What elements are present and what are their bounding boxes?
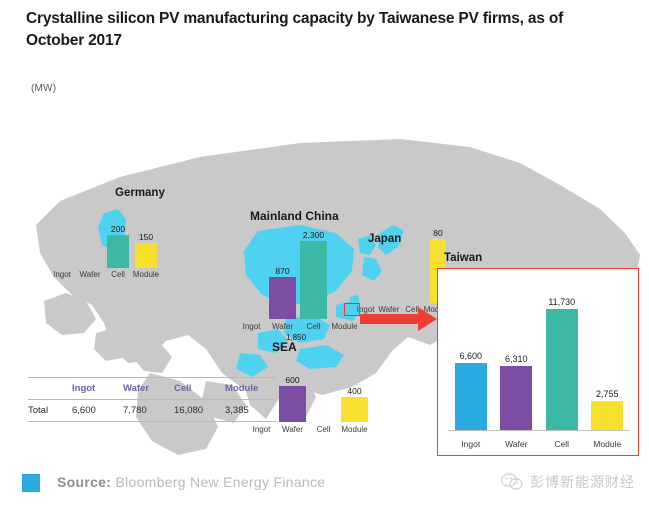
- cats-mainland-china: Ingot Wafer Cell Module: [236, 322, 360, 331]
- inset-axis-line: [448, 430, 630, 431]
- region-germany: Germany 200 150: [40, 190, 160, 280]
- infographic-page: Crystalline silicon PV manufacturing cap…: [0, 0, 649, 507]
- source-prefix: Source:: [57, 474, 111, 490]
- source-name: Bloomberg New Energy Finance: [115, 474, 325, 490]
- bar-sea-wafer: 600: [277, 375, 308, 422]
- table-header-ingot: Ingot: [72, 383, 123, 394]
- table-row: Total 6,600 7,780 16,080 3,385: [28, 400, 276, 421]
- watermark-text: 彭博新能源财经: [530, 472, 635, 492]
- bars-japan: 80: [354, 225, 450, 303]
- table-header-row: Ingot Wafer Cell Module: [28, 378, 276, 399]
- cats-germany: Ingot Wafer Cell Module: [48, 270, 160, 279]
- bars-mainland-china: 870 2,300 x: [236, 227, 360, 319]
- table-header-module: Module: [225, 383, 276, 394]
- region-mainland-china: Mainland China 870 2,300 x: [228, 210, 358, 330]
- bar-sea-module: 400: [339, 386, 370, 422]
- table-cell-ingot: 6,600: [72, 405, 123, 416]
- bar-germany-wafer: [76, 267, 104, 268]
- source-text: Source: Bloomberg New Energy Finance: [57, 474, 325, 490]
- inset-bar-module: 2,755: [591, 277, 623, 431]
- region-label-germany: Germany: [115, 187, 165, 199]
- page-title: Crystalline silicon PV manufacturing cap…: [26, 8, 616, 52]
- region-label-mainland-china: Mainland China: [250, 209, 339, 223]
- taiwan-callout-box: [344, 303, 360, 316]
- source-swatch-icon: [22, 474, 40, 492]
- cats-sea: Ingot Wafer Cell Module: [246, 425, 370, 434]
- inset-title-taiwan: Taiwan: [444, 252, 482, 264]
- table-header-cell: Cell: [174, 383, 225, 394]
- bar-japan-cell: [402, 302, 426, 303]
- table-cell-module: 3,385: [225, 405, 276, 416]
- bars-germany: 200 150: [48, 208, 160, 268]
- bar-germany-cell: 200: [104, 224, 132, 268]
- bar-china-ingot: [236, 318, 267, 319]
- red-arrow-icon: [360, 306, 438, 332]
- bar-germany-module: 150: [132, 232, 160, 268]
- table-row-label: Total: [28, 405, 72, 416]
- table-cell-cell: 16,080: [174, 405, 225, 416]
- bar-japan-wafer: [378, 302, 402, 303]
- watermark: 彭博新能源财经: [501, 472, 635, 492]
- inset-bar-cell: 11,730: [546, 277, 578, 431]
- inset-category-labels: Ingot Wafer Cell Module: [448, 439, 630, 449]
- inset-plot-area: 6,600 6,310 11,730 2,755: [448, 277, 630, 431]
- bar-china-cell: 2,300: [298, 230, 329, 319]
- footer: Source: Bloomberg New Energy Finance 彭博新…: [0, 460, 649, 507]
- region-label-sea: SEA: [272, 340, 297, 354]
- unit-label: (MW): [31, 83, 56, 94]
- inset-bar-wafer: 6,310: [500, 277, 532, 431]
- table-bottom-rule: [28, 421, 276, 422]
- taiwan-inset-chart: 6,600 6,310 11,730 2,755 Ingot: [437, 268, 639, 456]
- table-header-wafer: Wafer: [123, 383, 174, 394]
- bar-china-wafer: 870: [267, 266, 298, 319]
- wechat-icon: [501, 473, 523, 491]
- bar-sea-cell: [308, 421, 339, 422]
- inset-bar-ingot: 6,600: [455, 277, 487, 431]
- table-cell-wafer: 7,780: [123, 405, 174, 416]
- bar-germany-ingot: [48, 267, 76, 268]
- summary-table: Ingot Wafer Cell Module Total 6,600 7,78…: [28, 377, 276, 422]
